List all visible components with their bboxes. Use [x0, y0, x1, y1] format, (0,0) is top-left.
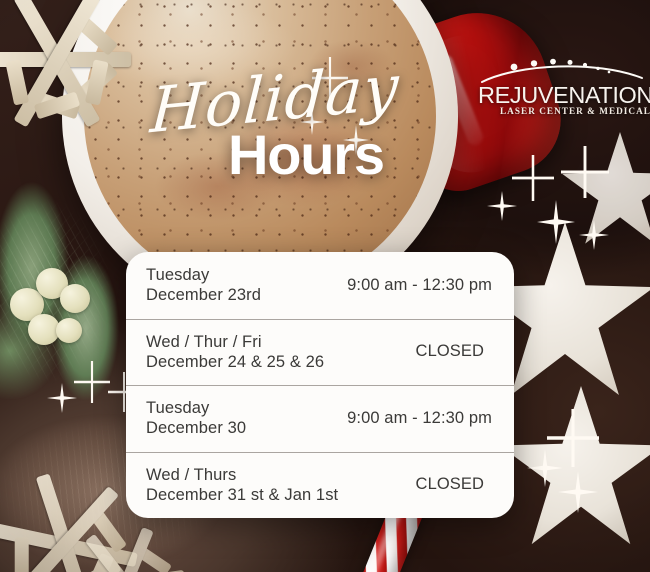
hours-row-date: December 30: [146, 418, 246, 438]
hours-row-weekday: Wed / Thur / Fri: [146, 332, 324, 352]
hours-row-time: 9:00 am - 12:30 pm: [347, 409, 492, 428]
hours-row-closed: CLOSED: [416, 475, 492, 494]
hours-row-date: December 24 & 25 & 26: [146, 352, 324, 372]
hours-row-weekday: Wed / Thurs: [146, 465, 338, 485]
hours-row: Wed / ThursDecember 31 st & Jan 1stCLOSE…: [126, 452, 514, 519]
holiday-hours-poster: Holiday Hours REJUVENATIONS LASER CENTER…: [0, 0, 650, 572]
hours-row-weekday: Tuesday: [146, 265, 261, 285]
hours-card: TuesdayDecember 23rd9:00 am - 12:30 pmWe…: [126, 252, 514, 518]
hours-row-date: December 31 st & Jan 1st: [146, 485, 338, 505]
hours-row-days: Wed / ThursDecember 31 st & Jan 1st: [146, 465, 338, 505]
logo-swoosh-icon: [478, 58, 646, 84]
brand-name: REJUVENATIONS: [478, 82, 646, 109]
hours-row: TuesdayDecember 23rd9:00 am - 12:30 pm: [126, 252, 514, 319]
brand-tagline: LASER CENTER & MEDICAL SPA: [500, 106, 650, 116]
snowflake-ornament-bottom-left-2: [66, 524, 186, 572]
hours-row-days: Wed / Thur / FriDecember 24 & 25 & 26: [146, 332, 324, 372]
hours-row-date: December 23rd: [146, 285, 261, 305]
hours-row: TuesdayDecember 309:00 am - 12:30 pm: [126, 385, 514, 452]
hours-row-days: TuesdayDecember 30: [146, 398, 246, 438]
hours-row-days: TuesdayDecember 23rd: [146, 265, 261, 305]
hours-row-weekday: Tuesday: [146, 398, 246, 418]
brand-logo: REJUVENATIONS LASER CENTER & MEDICAL SPA: [478, 58, 646, 120]
hours-row-closed: CLOSED: [416, 342, 492, 361]
hours-row: Wed / Thur / FriDecember 24 & 25 & 26CLO…: [126, 319, 514, 386]
hours-row-time: 9:00 am - 12:30 pm: [347, 276, 492, 295]
title-hours-bold: Hours: [228, 122, 384, 187]
